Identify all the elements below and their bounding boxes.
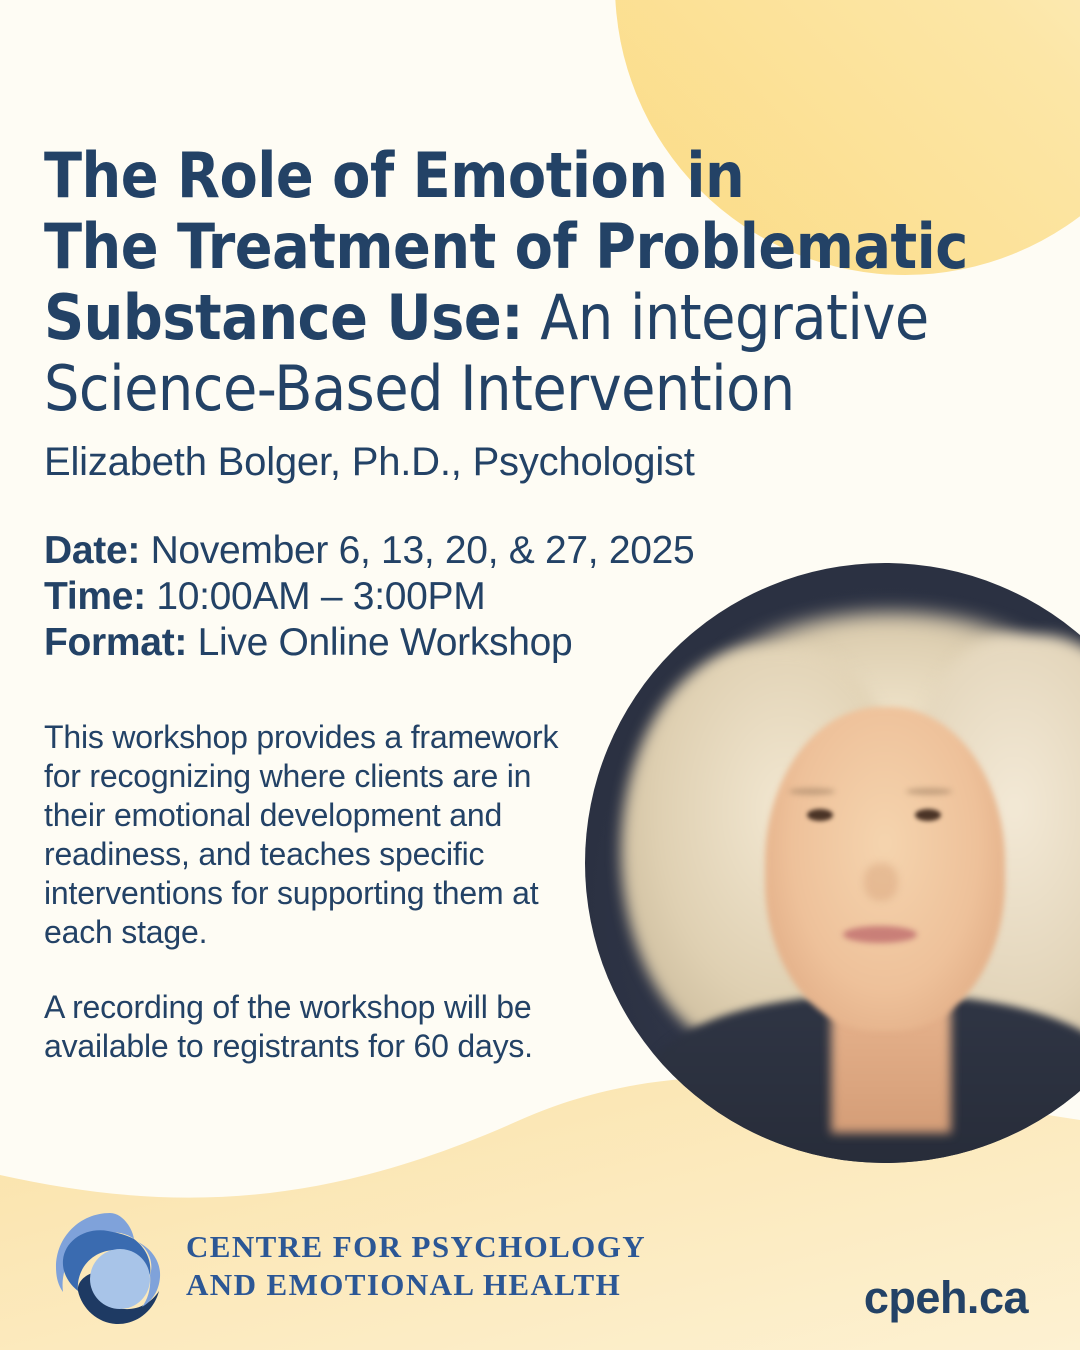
title-line-4-text: Science-Based Intervention bbox=[44, 352, 795, 425]
presenter-portrait bbox=[585, 563, 1080, 1163]
title-line-3: Substance Use: An integrative bbox=[44, 282, 994, 353]
portrait-eye-left bbox=[807, 809, 833, 821]
portrait-eye-right bbox=[915, 809, 941, 821]
title-line-2-text: The Treatment of Problematic bbox=[44, 210, 968, 283]
title-line-3-light: An integrative bbox=[523, 281, 929, 354]
description-paragraph-1: This workshop provides a framework for r… bbox=[44, 718, 574, 952]
description-paragraph-2: A recording of the workshop will be avai… bbox=[44, 988, 574, 1066]
organization-name-line-2: AND EMOTIONAL HEALTH bbox=[186, 1266, 646, 1304]
format-value: Live Online Workshop bbox=[187, 621, 572, 664]
title-line-1: The Role of Emotion in bbox=[44, 140, 994, 211]
website-url[interactable]: cpeh.ca bbox=[864, 1272, 1028, 1324]
format-label: Format: bbox=[44, 621, 187, 664]
organization-name: CENTRE FOR PSYCHOLOGY AND EMOTIONAL HEAL… bbox=[186, 1228, 646, 1304]
date-label: Date: bbox=[44, 529, 140, 572]
page-title: The Role of Emotion in The Treatment of … bbox=[44, 140, 994, 424]
workshop-description: This workshop provides a framework for r… bbox=[44, 718, 574, 1066]
wave-circle-logo-icon bbox=[48, 1207, 172, 1331]
portrait-mouth bbox=[843, 926, 917, 943]
title-line-4: Science-Based Intervention bbox=[44, 353, 994, 424]
portrait-brow-right bbox=[906, 788, 952, 795]
portrait-nose bbox=[864, 863, 898, 901]
organization-name-line-1: CENTRE FOR PSYCHOLOGY bbox=[186, 1228, 646, 1266]
title-line-1-text: The Role of Emotion in bbox=[44, 139, 744, 212]
time-label: Time: bbox=[44, 575, 146, 618]
time-value: 10:00AM – 3:00PM bbox=[146, 575, 486, 618]
portrait-brow-left bbox=[789, 788, 835, 795]
title-line-2: The Treatment of Problematic bbox=[44, 211, 994, 282]
presenter-name: Elizabeth Bolger, Ph.D., Psychologist bbox=[44, 440, 695, 485]
logo-inner-disc bbox=[90, 1249, 150, 1309]
portrait-photo bbox=[585, 563, 1080, 1163]
title-line-3-bold: Substance Use: bbox=[44, 281, 523, 354]
